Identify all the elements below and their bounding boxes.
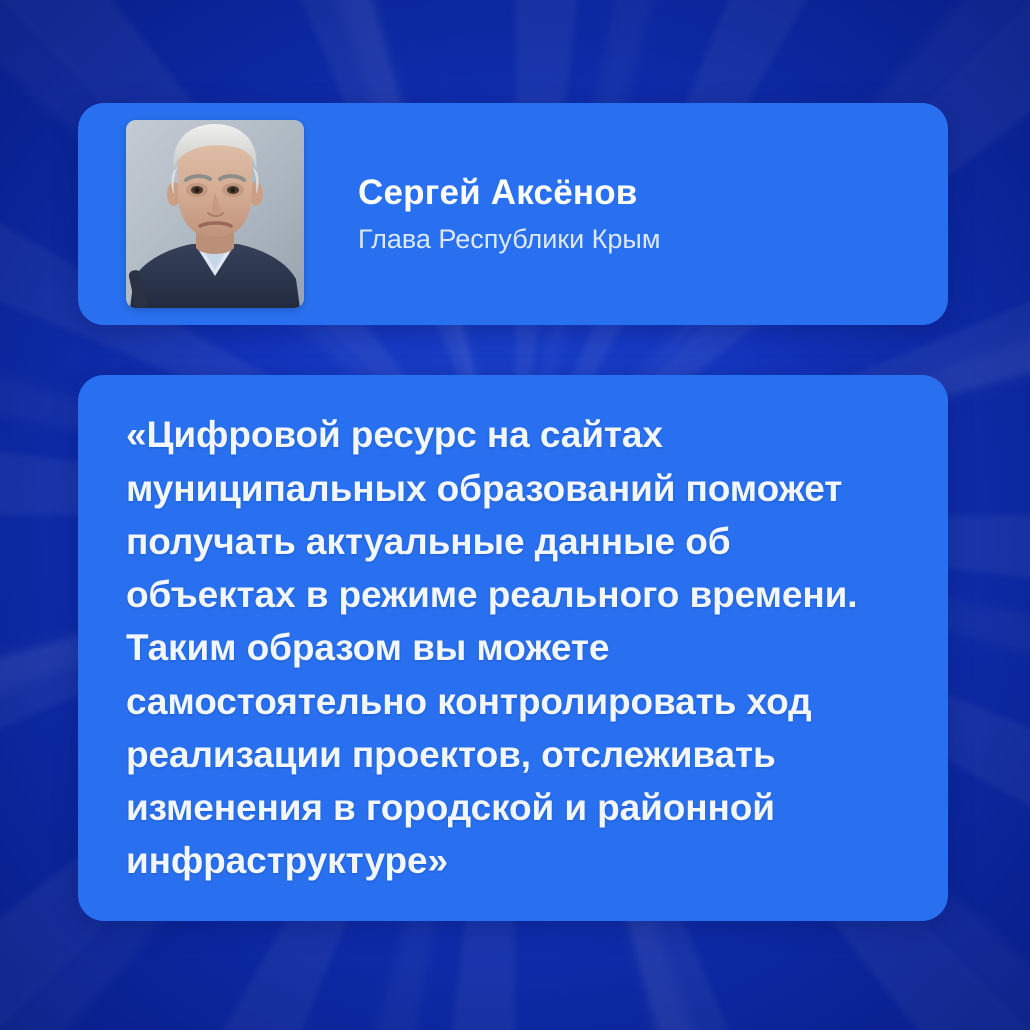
quote-text: «Цифровой ресурс на сайтах муниципальных… [126, 408, 892, 887]
quote-card: «Цифровой ресурс на сайтах муниципальных… [78, 375, 948, 921]
social-quote-card: Сергей Аксёнов Глава Республики Крым «Ци… [0, 0, 1030, 1030]
speaker-role: Глава Республики Крым [358, 224, 660, 255]
speaker-card: Сергей Аксёнов Глава Республики Крым [78, 103, 948, 325]
speaker-info: Сергей Аксёнов Глава Республики Крым [358, 173, 660, 254]
speaker-name: Сергей Аксёнов [358, 173, 660, 213]
avatar-portrait-icon [126, 120, 304, 308]
avatar [126, 120, 304, 308]
